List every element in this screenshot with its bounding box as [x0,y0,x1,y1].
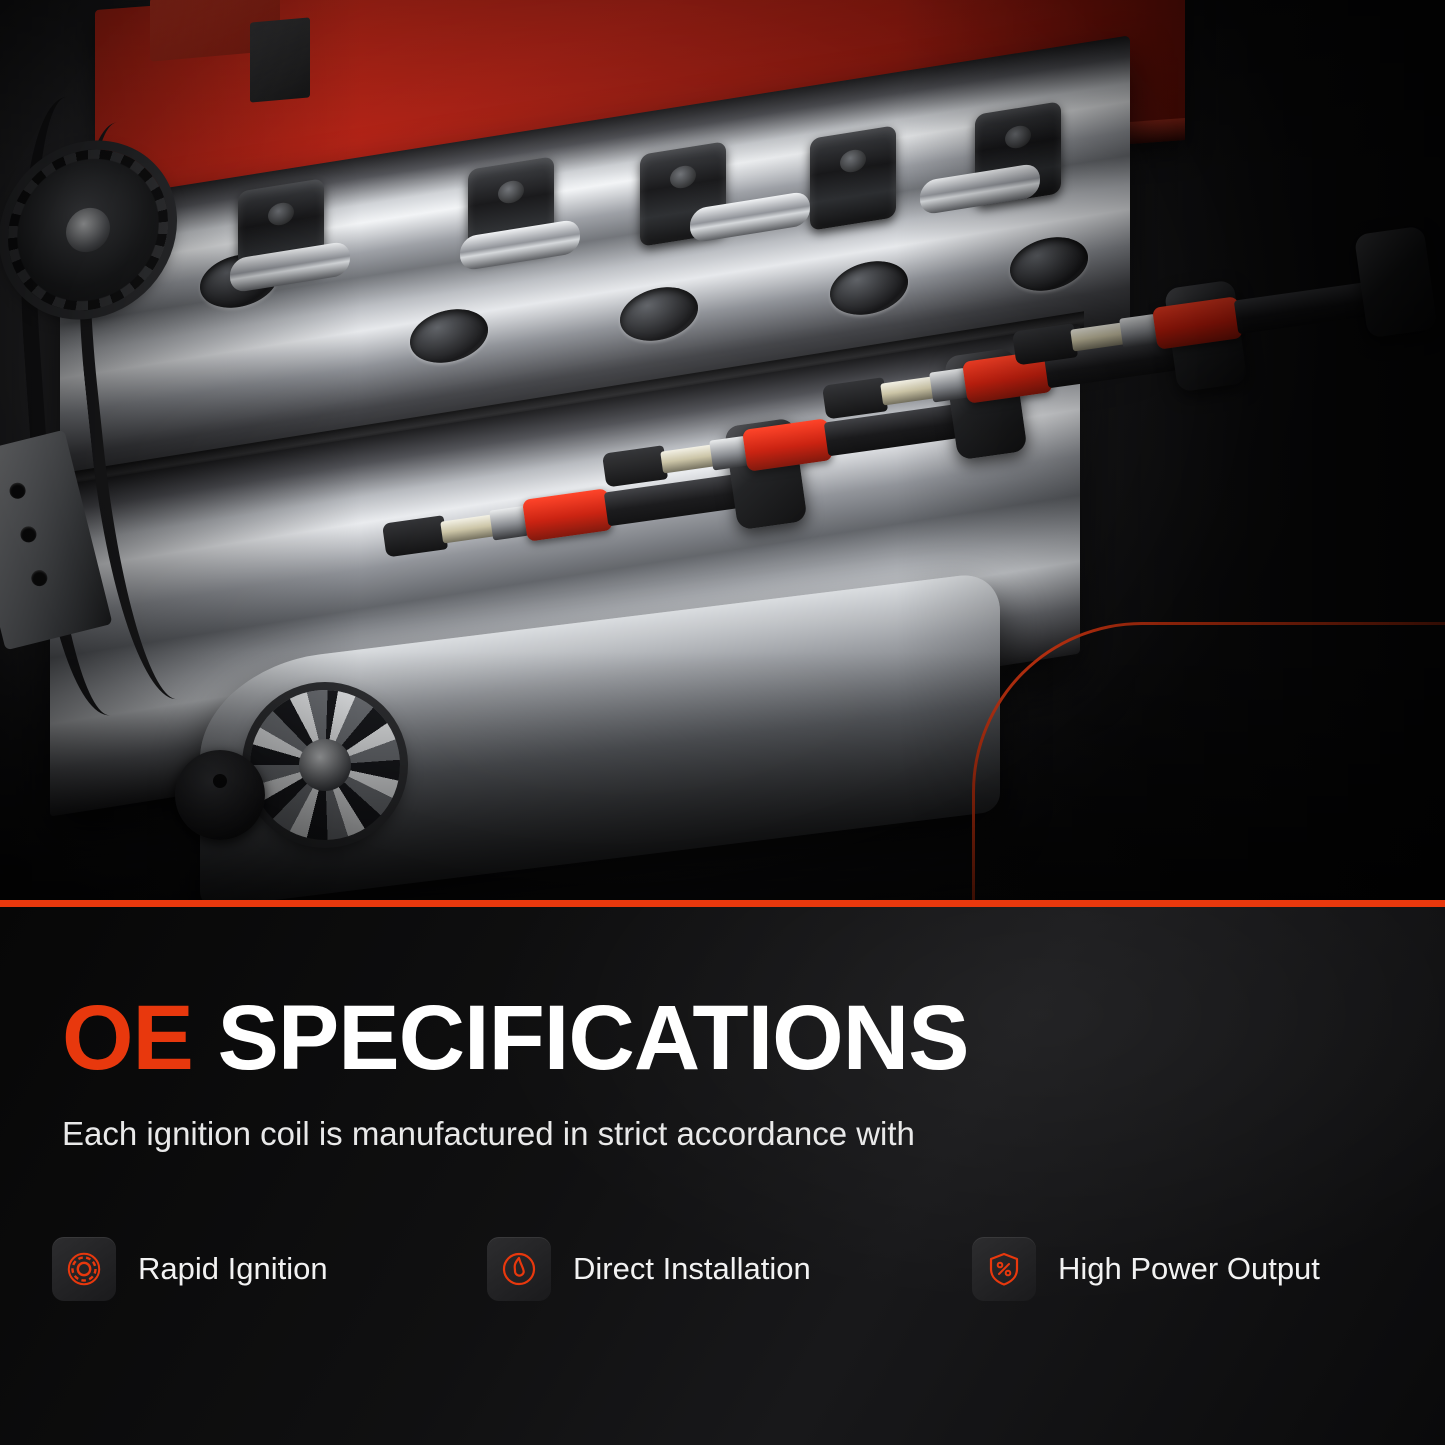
feature-direct-installation: Direct Installation [487,1237,972,1301]
crank-pulley [250,690,400,840]
page-title: OE SPECIFICATIONS [62,992,969,1084]
feature-rapid-ignition: Rapid Ignition [52,1237,487,1301]
product-poster: OE SPECIFICATIONS Each ignition coil is … [0,0,1445,1445]
bracket-hole [19,525,38,544]
coil-connector-head [1354,226,1438,339]
feature-label: Rapid Ignition [138,1251,328,1287]
subheadline: Each ignition coil is manufactured in st… [62,1115,915,1153]
feature-list: Rapid Ignition Direct Installation [52,1237,1402,1301]
valve-cover-bracket [250,17,310,102]
headline-rest: SPECIFICATIONS [193,987,969,1089]
feature-label: Direct Installation [573,1251,811,1287]
accent-divider [0,900,1445,907]
bracket-hole [8,481,27,500]
gear-icon [52,1237,116,1301]
feature-label: High Power Output [1058,1251,1320,1287]
percent-shield-icon [972,1237,1036,1301]
accent-arc [972,622,1445,905]
hero-image [0,0,1445,905]
bracket-hole [30,568,49,587]
info-panel: OE SPECIFICATIONS Each ignition coil is … [0,907,1445,1445]
flame-icon [487,1237,551,1301]
feature-high-power-output: High Power Output [972,1237,1402,1301]
headline-accent: OE [62,987,193,1089]
cam-lobe [810,125,896,231]
idler-pulley [175,750,265,840]
